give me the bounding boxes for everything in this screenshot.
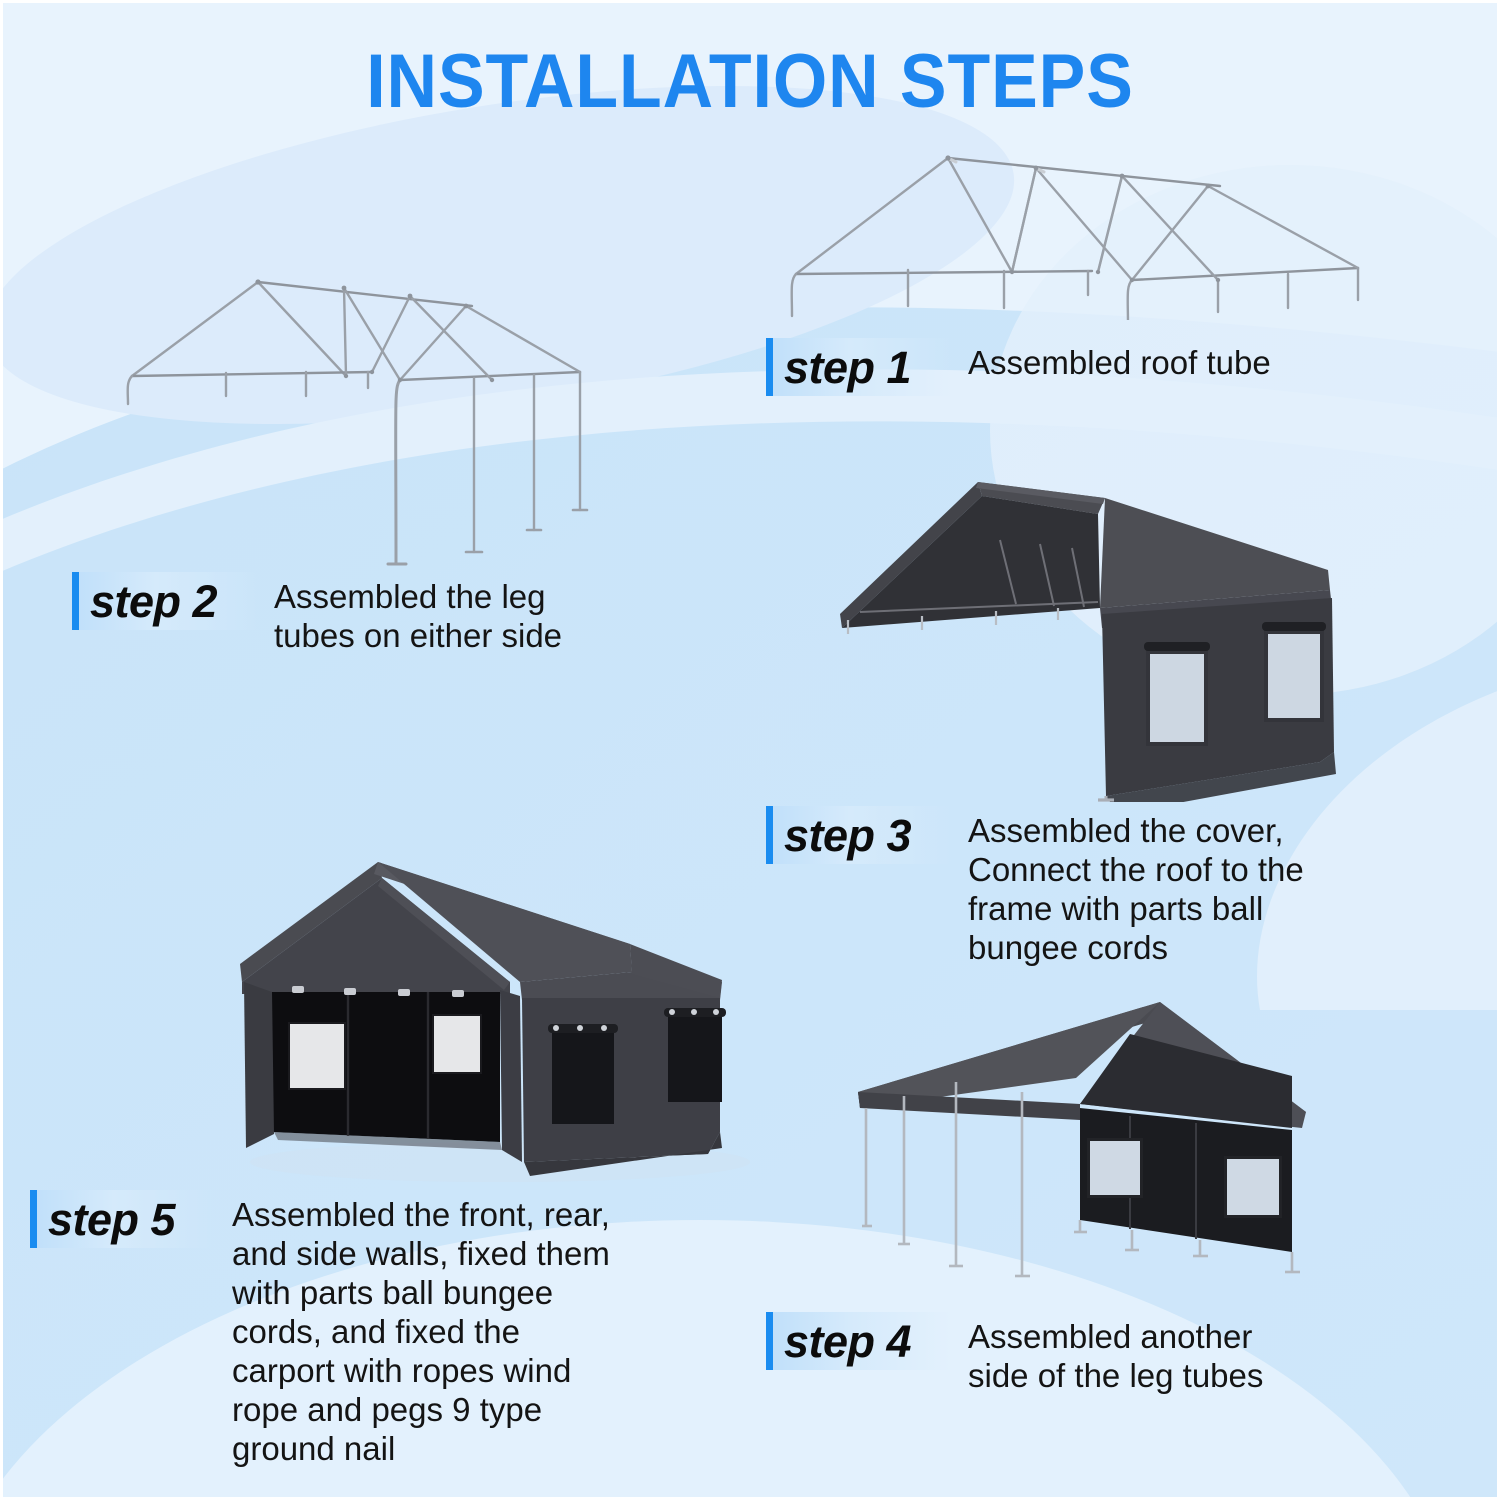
step-description-2: Assembled the leg tubes on either side <box>274 572 562 656</box>
canopy-cover-svg <box>800 462 1400 802</box>
step-description-1: Assembled roof tube <box>968 338 1271 383</box>
infographic-canvas: INSTALLATION STEPS <box>0 0 1500 1500</box>
step-block-3: step 3 Assembled the cover, Connect the … <box>766 806 1304 968</box>
step-badge-4: step 4 <box>766 1312 952 1370</box>
step-label-5: step 5 <box>48 1197 175 1242</box>
illustration-frame-with-legs <box>100 268 620 568</box>
illustration-carport-both-legs <box>840 980 1360 1280</box>
roof-right-slope <box>1100 498 1330 608</box>
step-label-3: step 3 <box>784 813 911 858</box>
side-window-1 <box>1087 1138 1143 1198</box>
step-description-4: Assembled another side of the leg tubes <box>968 1312 1263 1396</box>
step-description-3: Assembled the cover, Connect the roof to… <box>968 806 1304 968</box>
page-title: INSTALLATION STEPS <box>60 38 1440 125</box>
front-window-2 <box>432 1014 482 1074</box>
front-window-1 <box>288 1022 346 1090</box>
step-badge-1: step 1 <box>766 338 952 396</box>
step-label-1: step 1 <box>784 345 911 390</box>
step-badge-3: step 3 <box>766 806 952 864</box>
door-edge-flap <box>500 990 522 1162</box>
side-window-1 <box>548 1024 618 1124</box>
side-window-2 <box>1262 622 1326 722</box>
complete-carport-svg <box>200 832 760 1184</box>
step-badge-2: step 2 <box>72 572 258 630</box>
left-corner-flap <box>244 982 274 1148</box>
illustration-roof-tube-frame <box>780 140 1380 320</box>
illustration-canopy-cover <box>800 462 1400 802</box>
step-label-2: step 2 <box>90 579 217 624</box>
frame-with-legs-svg <box>100 268 620 568</box>
step-block-2: step 2 Assembled the leg tubes on either… <box>72 572 562 656</box>
carport-both-legs-svg <box>840 980 1360 1280</box>
roof-tube-frame-svg <box>780 140 1380 320</box>
side-window-2 <box>1224 1156 1282 1218</box>
roof-fascia-left <box>858 1092 1080 1120</box>
step-block-5: step 5 Assembled the front, rear, and si… <box>30 1190 610 1469</box>
step-block-1: step 1 Assembled roof tube <box>766 338 1271 396</box>
step-badge-5: step 5 <box>30 1190 216 1248</box>
step-label-4: step 4 <box>784 1319 911 1364</box>
illustration-complete-carport <box>200 832 760 1184</box>
side-window-2 <box>664 1008 726 1102</box>
step-description-5: Assembled the front, rear, and side wall… <box>232 1190 610 1469</box>
side-window-1 <box>1144 642 1210 746</box>
step-block-4: step 4 Assembled another side of the leg… <box>766 1312 1263 1396</box>
